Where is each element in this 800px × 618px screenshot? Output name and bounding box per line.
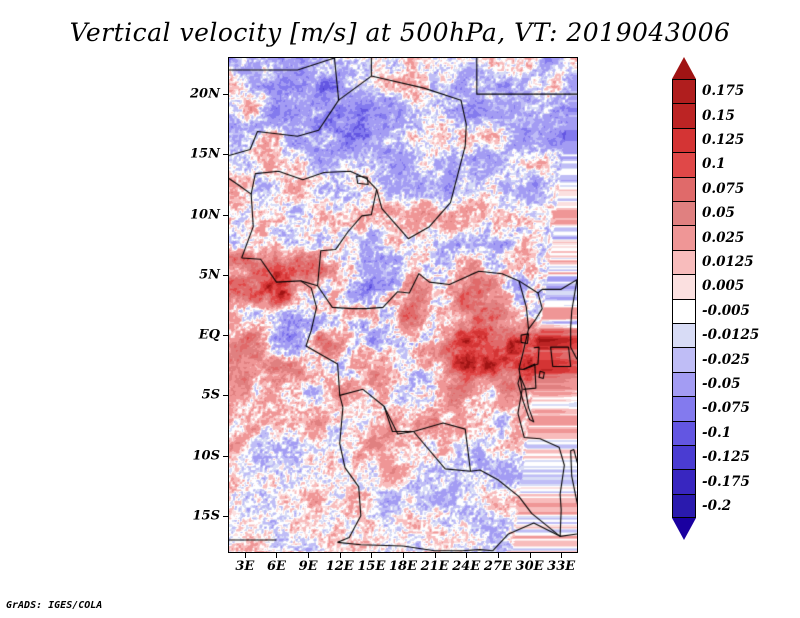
colorbar-band [672, 201, 696, 225]
colorbar-band [672, 299, 696, 323]
colorbar-band [672, 347, 696, 371]
footer-credit: GrADS: IGES/COLA [6, 600, 102, 611]
y-axis-tick-label: 15N [182, 147, 220, 162]
colorbar: 0.1750.150.1250.10.0750.050.0250.01250.0… [672, 57, 696, 557]
x-axis-tick [245, 553, 246, 558]
colorbar-tick-label: 0.0125 [702, 254, 754, 270]
x-axis-tick-label: 3E [235, 559, 254, 574]
x-axis-tick [403, 553, 404, 558]
colorbar-band [672, 396, 696, 420]
x-axis-tick [530, 553, 531, 558]
colorbar-tick-label: 0.075 [702, 181, 744, 197]
y-axis-tick-label: 10N [182, 207, 220, 222]
colorbar-tick-label: -0.075 [702, 400, 750, 416]
colorbar-tick-label: -0.175 [702, 474, 750, 490]
colorbar-band [672, 250, 696, 274]
colorbar-band [672, 274, 696, 298]
colorbar-tick-label: 0.15 [702, 108, 735, 124]
y-axis-tick-label: 5N [182, 267, 220, 282]
x-axis-tick-label: 30E [516, 559, 544, 574]
grads-plot-page: Vertical velocity [m/s] at 500hPa, VT: 2… [0, 0, 800, 618]
plot-frame [228, 57, 578, 553]
y-axis-tick [223, 215, 228, 216]
colorbar-tick-label: -0.125 [702, 449, 750, 465]
colorbar-band [672, 323, 696, 347]
y-axis-tick-label: EQ [182, 328, 220, 343]
x-axis-tick-label: 6E [267, 559, 286, 574]
colorbar-band [672, 225, 696, 249]
y-axis-tick [223, 335, 228, 336]
map-plot-area [228, 57, 578, 553]
x-axis-tick [308, 553, 309, 558]
x-axis-tick-label: 21E [421, 559, 449, 574]
colorbar-tick-label: 0.1 [702, 156, 726, 172]
y-axis-tick [223, 456, 228, 457]
x-axis-tick-label: 18E [389, 559, 417, 574]
y-axis-tick [223, 395, 228, 396]
colorbar-arrow-bottom [672, 518, 696, 540]
x-axis-tick-label: 9E [299, 559, 318, 574]
colorbar-band [672, 103, 696, 127]
colorbar-band [672, 469, 696, 493]
colorbar-tick-label: -0.005 [702, 303, 750, 319]
y-axis-tick-label: 20N [182, 87, 220, 102]
x-axis-tick [276, 553, 277, 558]
y-axis-tick-label: 5S [182, 388, 220, 403]
colorbar-tick-label: -0.1 [702, 425, 731, 441]
colorbar-band [672, 128, 696, 152]
colorbar-tick-label: 0.025 [702, 230, 744, 246]
x-axis-tick [371, 553, 372, 558]
y-axis-tick [223, 154, 228, 155]
colorbar-band [672, 494, 696, 518]
x-axis-tick-label: 15E [357, 559, 385, 574]
colorbar-band [672, 372, 696, 396]
colorbar-band [672, 79, 696, 103]
colorbar-band [672, 177, 696, 201]
y-axis-tick [223, 516, 228, 517]
x-axis-tick [340, 553, 341, 558]
y-axis-tick [223, 94, 228, 95]
colorbar-band [672, 421, 696, 445]
colorbar-band [672, 152, 696, 176]
colorbar-band [672, 445, 696, 469]
x-axis-tick-label: 33E [547, 559, 575, 574]
colorbar-tick-label: -0.05 [702, 376, 740, 392]
x-axis-tick [561, 553, 562, 558]
colorbar-tick-label: 0.175 [702, 83, 744, 99]
y-axis-tick-label: 15S [182, 508, 220, 523]
colorbar-tick-label: 0.125 [702, 132, 744, 148]
y-axis-tick-label: 10S [182, 448, 220, 463]
colorbar-tick-label: 0.005 [702, 278, 744, 294]
colorbar-tick-label: -0.025 [702, 352, 750, 368]
colorbar-tick-label: -0.0125 [702, 327, 759, 343]
y-axis-tick [223, 275, 228, 276]
x-axis-tick-label: 24E [452, 559, 480, 574]
x-axis-tick [498, 553, 499, 558]
x-axis-tick-label: 12E [326, 559, 354, 574]
x-axis-tick [466, 553, 467, 558]
x-axis-tick [435, 553, 436, 558]
colorbar-tick-label: -0.2 [702, 498, 731, 514]
colorbar-arrow-top [672, 57, 696, 79]
x-axis-tick-label: 27E [484, 559, 512, 574]
colorbar-tick-label: 0.05 [702, 205, 735, 221]
page-title: Vertical velocity [m/s] at 500hPa, VT: 2… [0, 18, 800, 47]
